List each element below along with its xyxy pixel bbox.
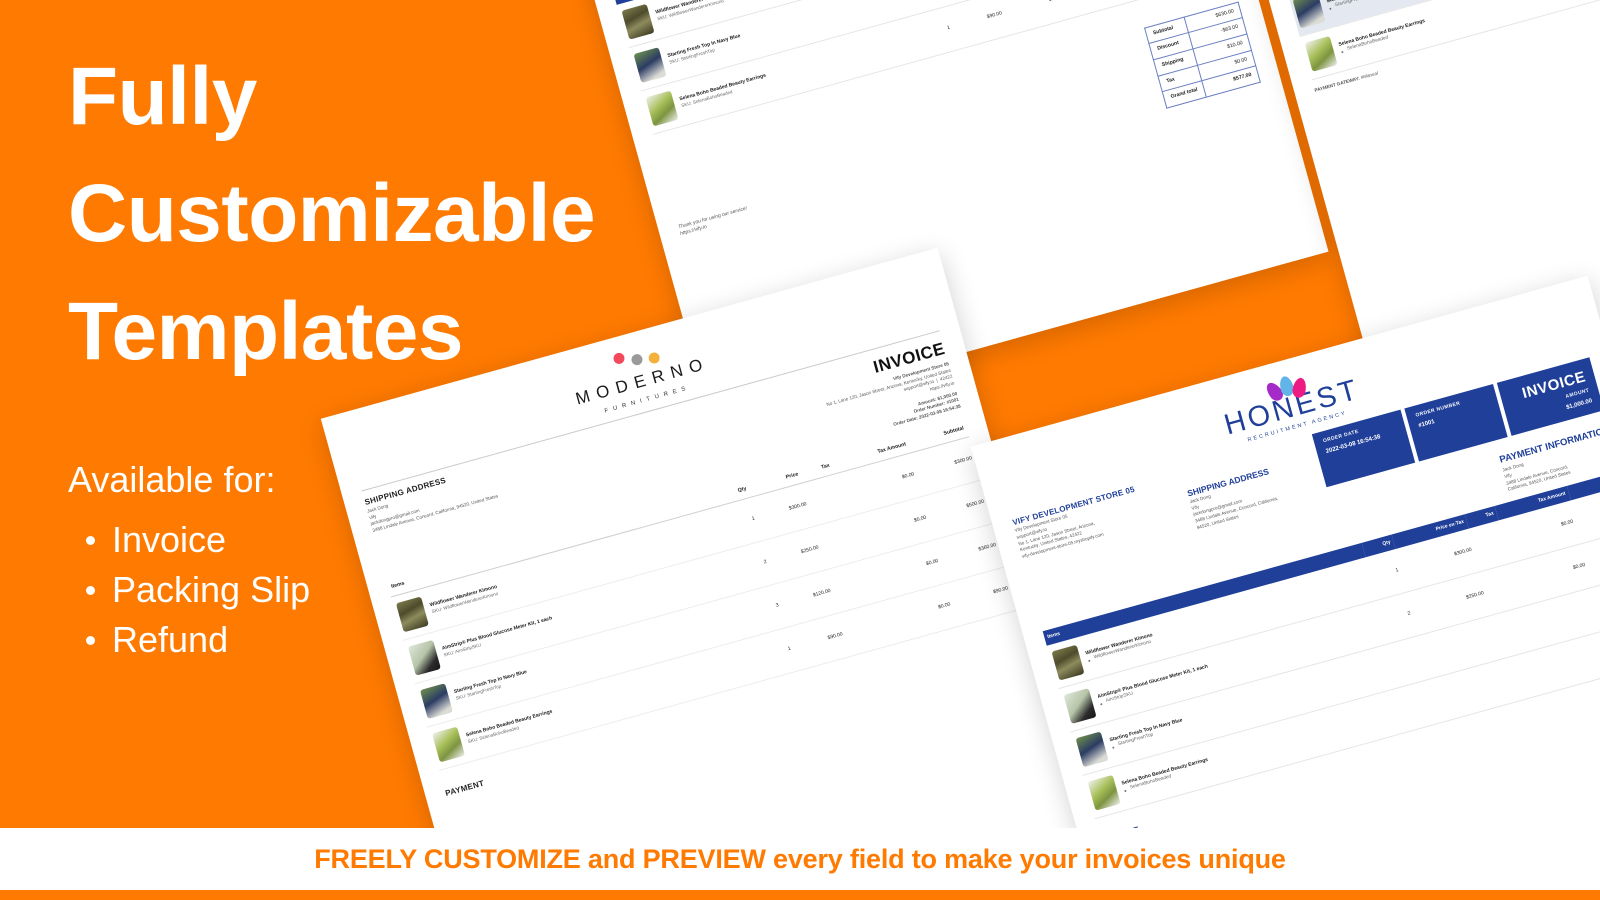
- list-item: Refund: [112, 615, 310, 665]
- product-thumbnail-icon: [1051, 645, 1084, 681]
- product-thumbnail-icon: [1292, 0, 1325, 28]
- product-thumbnail-icon: [621, 4, 654, 40]
- product-thumbnail-icon: [396, 597, 429, 633]
- banner-text: FREELY CUSTOMIZE and PREVIEW every field…: [314, 844, 1285, 875]
- cell-price: $90.00: [947, 0, 1011, 49]
- payment-gateway-label: PAYMENT GATEWAY:: [1314, 75, 1360, 92]
- product-thumbnail-icon: [1088, 775, 1121, 811]
- list-item: Invoice: [112, 515, 310, 565]
- hero-copy: Fully Customizable Templates: [68, 38, 668, 390]
- available-for-list: Invoice Packing Slip Refund: [68, 515, 310, 664]
- product-thumbnail-icon: [1304, 36, 1337, 72]
- payment-gateway-value: #Manual: [1360, 70, 1378, 80]
- available-for-block: Available for: Invoice Packing Slip Refu…: [68, 458, 310, 664]
- cell-tax-amount: $0.00: [1089, 0, 1175, 10]
- product-thumbnail-icon: [432, 727, 465, 763]
- item-name: Selena Boho Beaded Beauty Earrings: [679, 72, 767, 102]
- bottom-banner: FREELY CUSTOMIZE and PREVIEW every field…: [0, 828, 1600, 890]
- list-item: Packing Slip: [112, 565, 310, 615]
- cell-discount: $0.00: [999, 0, 1070, 35]
- product-thumbnail-icon: [408, 640, 441, 676]
- page-title: Fully Customizable Templates: [68, 38, 668, 390]
- banner-bottom-strip: [0, 890, 1600, 900]
- product-thumbnail-icon: [1076, 732, 1109, 768]
- available-for-label: Available for:: [68, 458, 310, 501]
- totals-table: Subtotal $630.00 Discount -$63.00 Shippi…: [1144, 2, 1260, 109]
- item-name: Selena Boho Beaded Beauty Earrings: [465, 709, 553, 739]
- product-thumbnail-icon: [420, 683, 453, 719]
- item-sku: StartingFreshTop: [1334, 0, 1402, 10]
- promo-banner-canvas: Fully Customizable Templates Available f…: [0, 0, 1600, 900]
- product-thumbnail-icon: [1064, 688, 1097, 724]
